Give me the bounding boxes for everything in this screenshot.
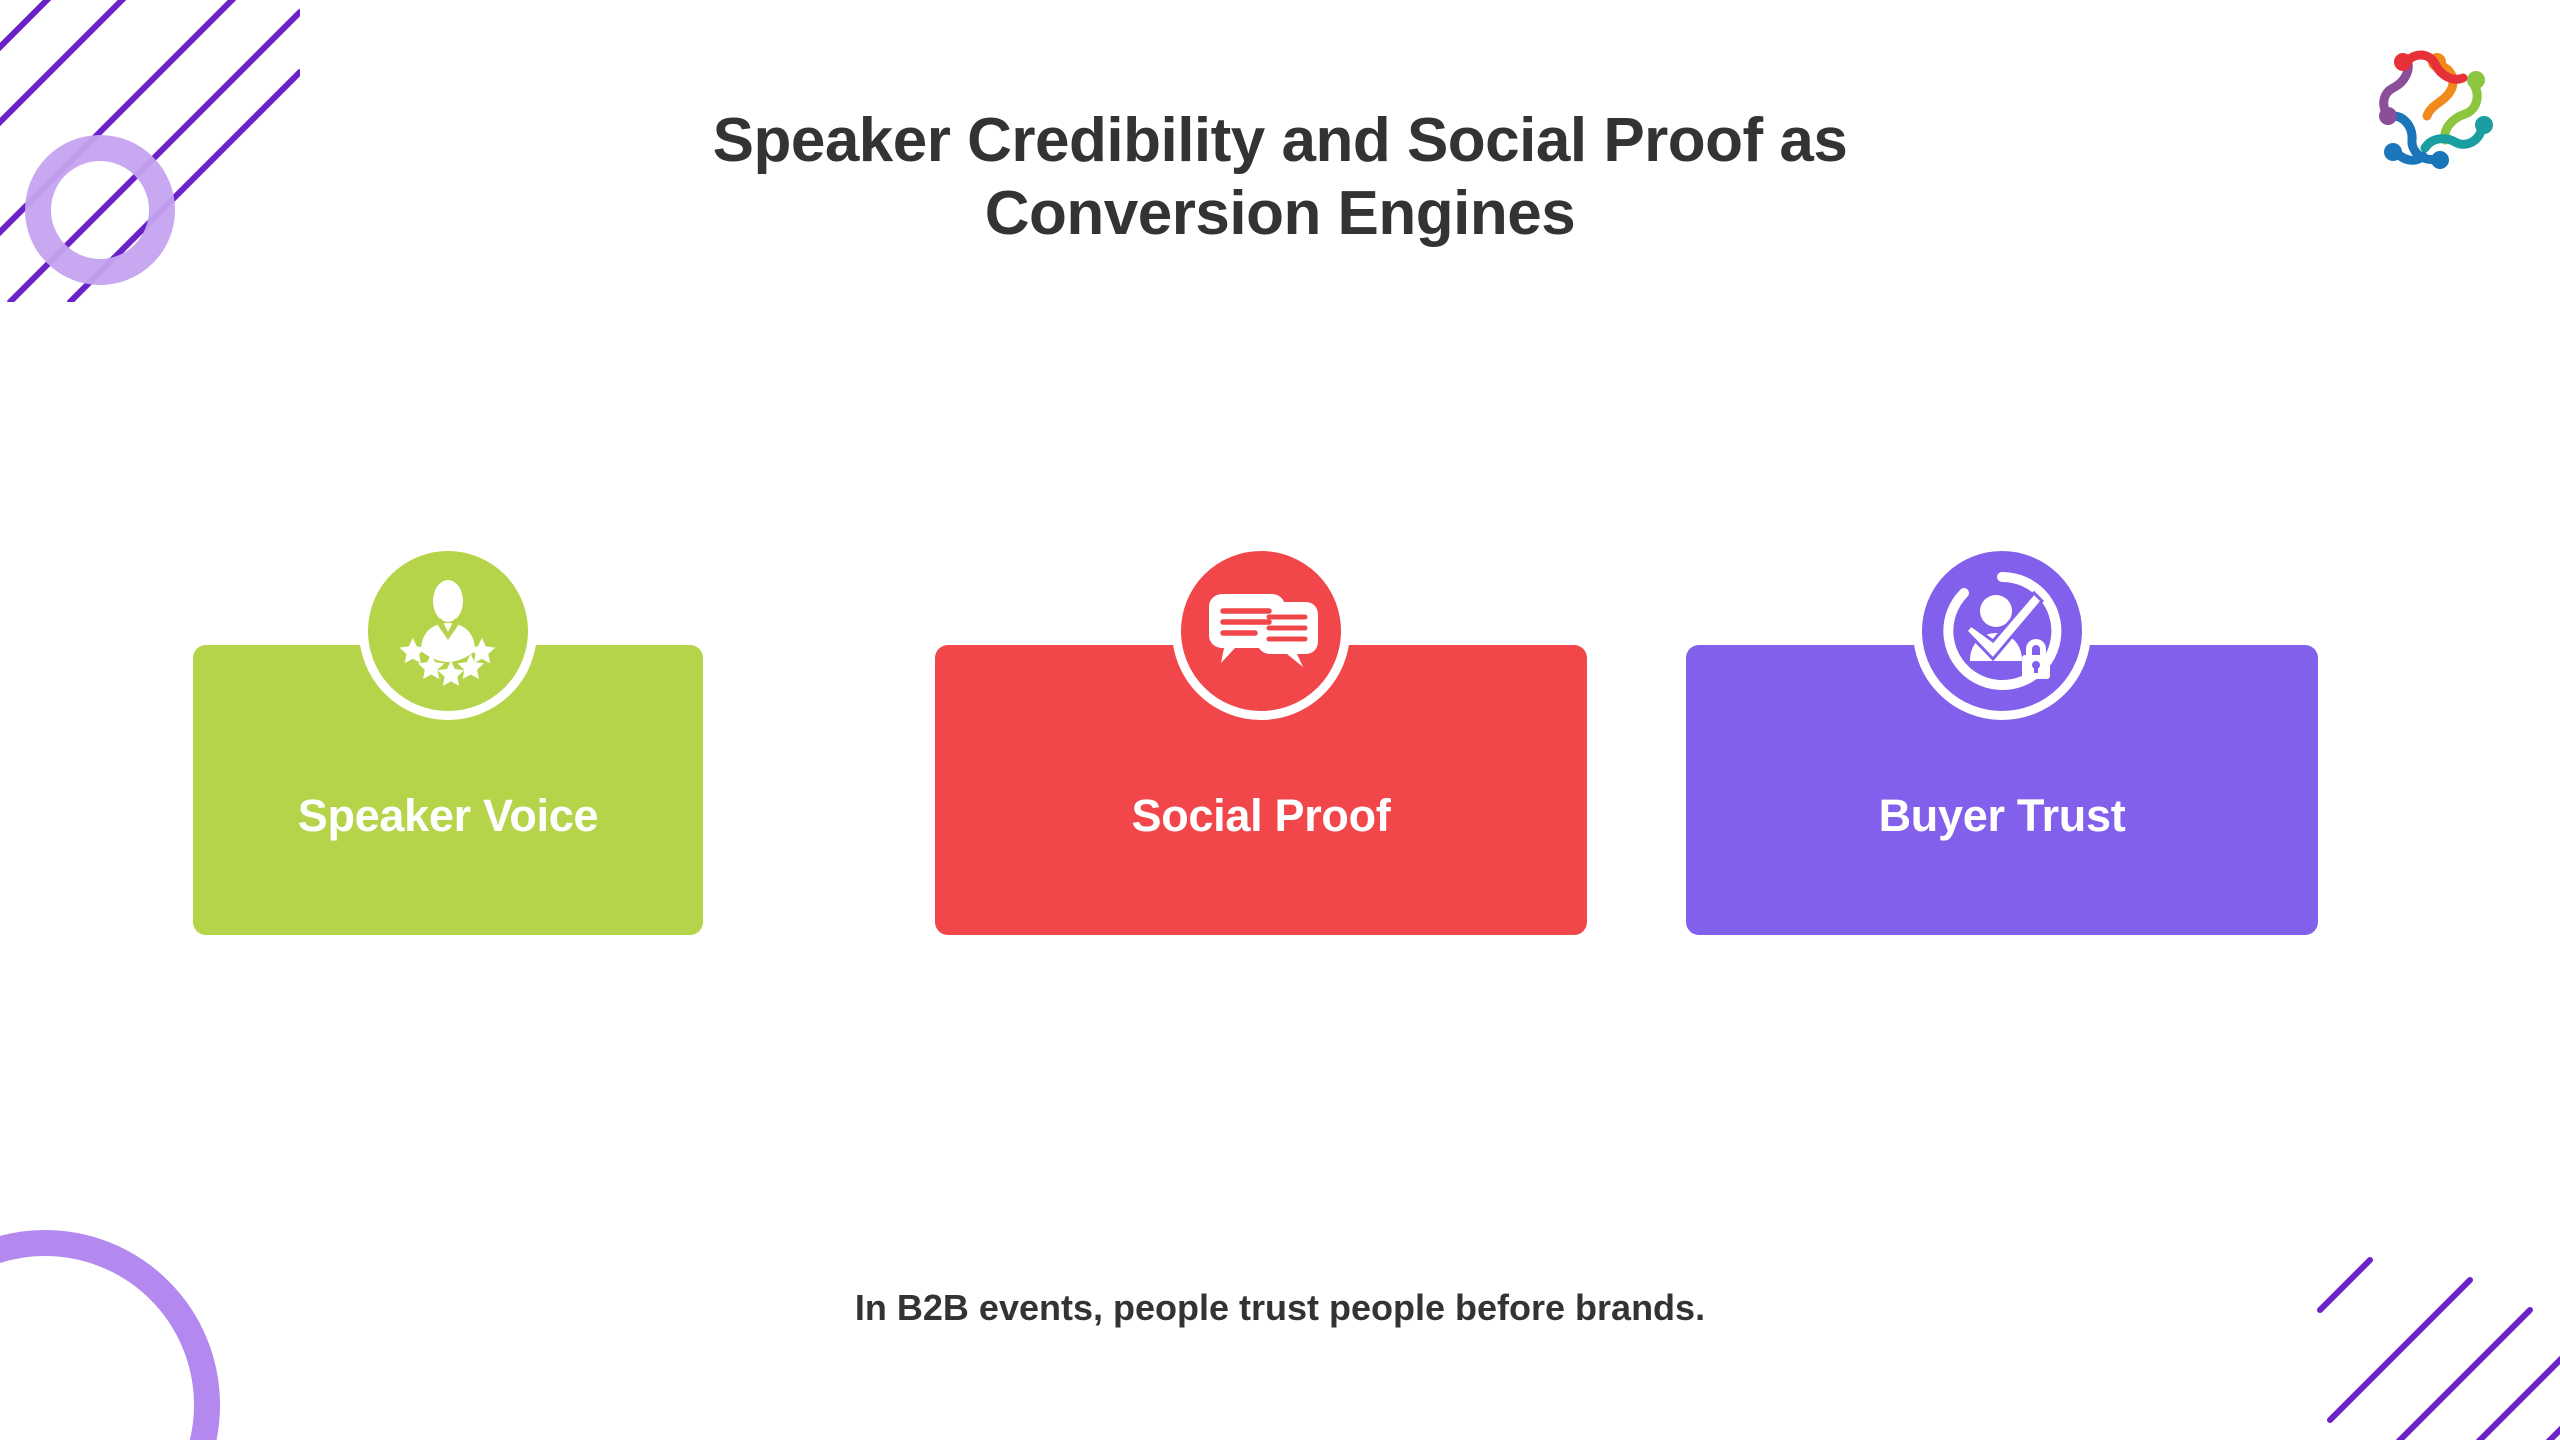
people-circle-logo <box>2365 40 2505 180</box>
slide-caption: In B2B events, people trust people befor… <box>380 1287 2180 1329</box>
ring-top-left <box>25 135 175 285</box>
slide-canvas: Speaker Credibility and Social Proof as … <box>0 0 2560 1440</box>
diagonal-stripes-bottom-right-icon <box>2300 1190 2560 1440</box>
card-speaker-voice[interactable]: Speaker Voice <box>193 645 703 935</box>
cards-row: Speaker Voice <box>193 645 2318 935</box>
card-label-social-proof: Social Proof <box>1132 790 1391 842</box>
slide-title: Speaker Credibility and Social Proof as … <box>480 105 2080 250</box>
padlock-icon <box>2022 639 2050 679</box>
speaker-rating-icon <box>383 566 513 696</box>
verified-user-badge <box>1913 542 2091 720</box>
speaker-rating-badge <box>359 542 537 720</box>
title-line-2: Conversion Engines <box>985 179 1575 248</box>
card-buyer-trust[interactable]: Buyer Trust <box>1686 645 2318 935</box>
title-line-1: Speaker Credibility and Social Proof as <box>713 106 1848 175</box>
verified-user-lock-icon <box>1938 567 2066 695</box>
diagonal-stripes-top-left-icon <box>0 0 300 302</box>
ring-bottom-left <box>0 1230 220 1440</box>
chat-bubbles-icon <box>1199 569 1323 693</box>
card-label-buyer-trust: Buyer Trust <box>1879 790 2126 842</box>
chat-bubbles-badge <box>1172 542 1350 720</box>
card-social-proof[interactable]: Social Proof <box>935 645 1587 935</box>
card-label-speaker-voice: Speaker Voice <box>298 790 598 842</box>
